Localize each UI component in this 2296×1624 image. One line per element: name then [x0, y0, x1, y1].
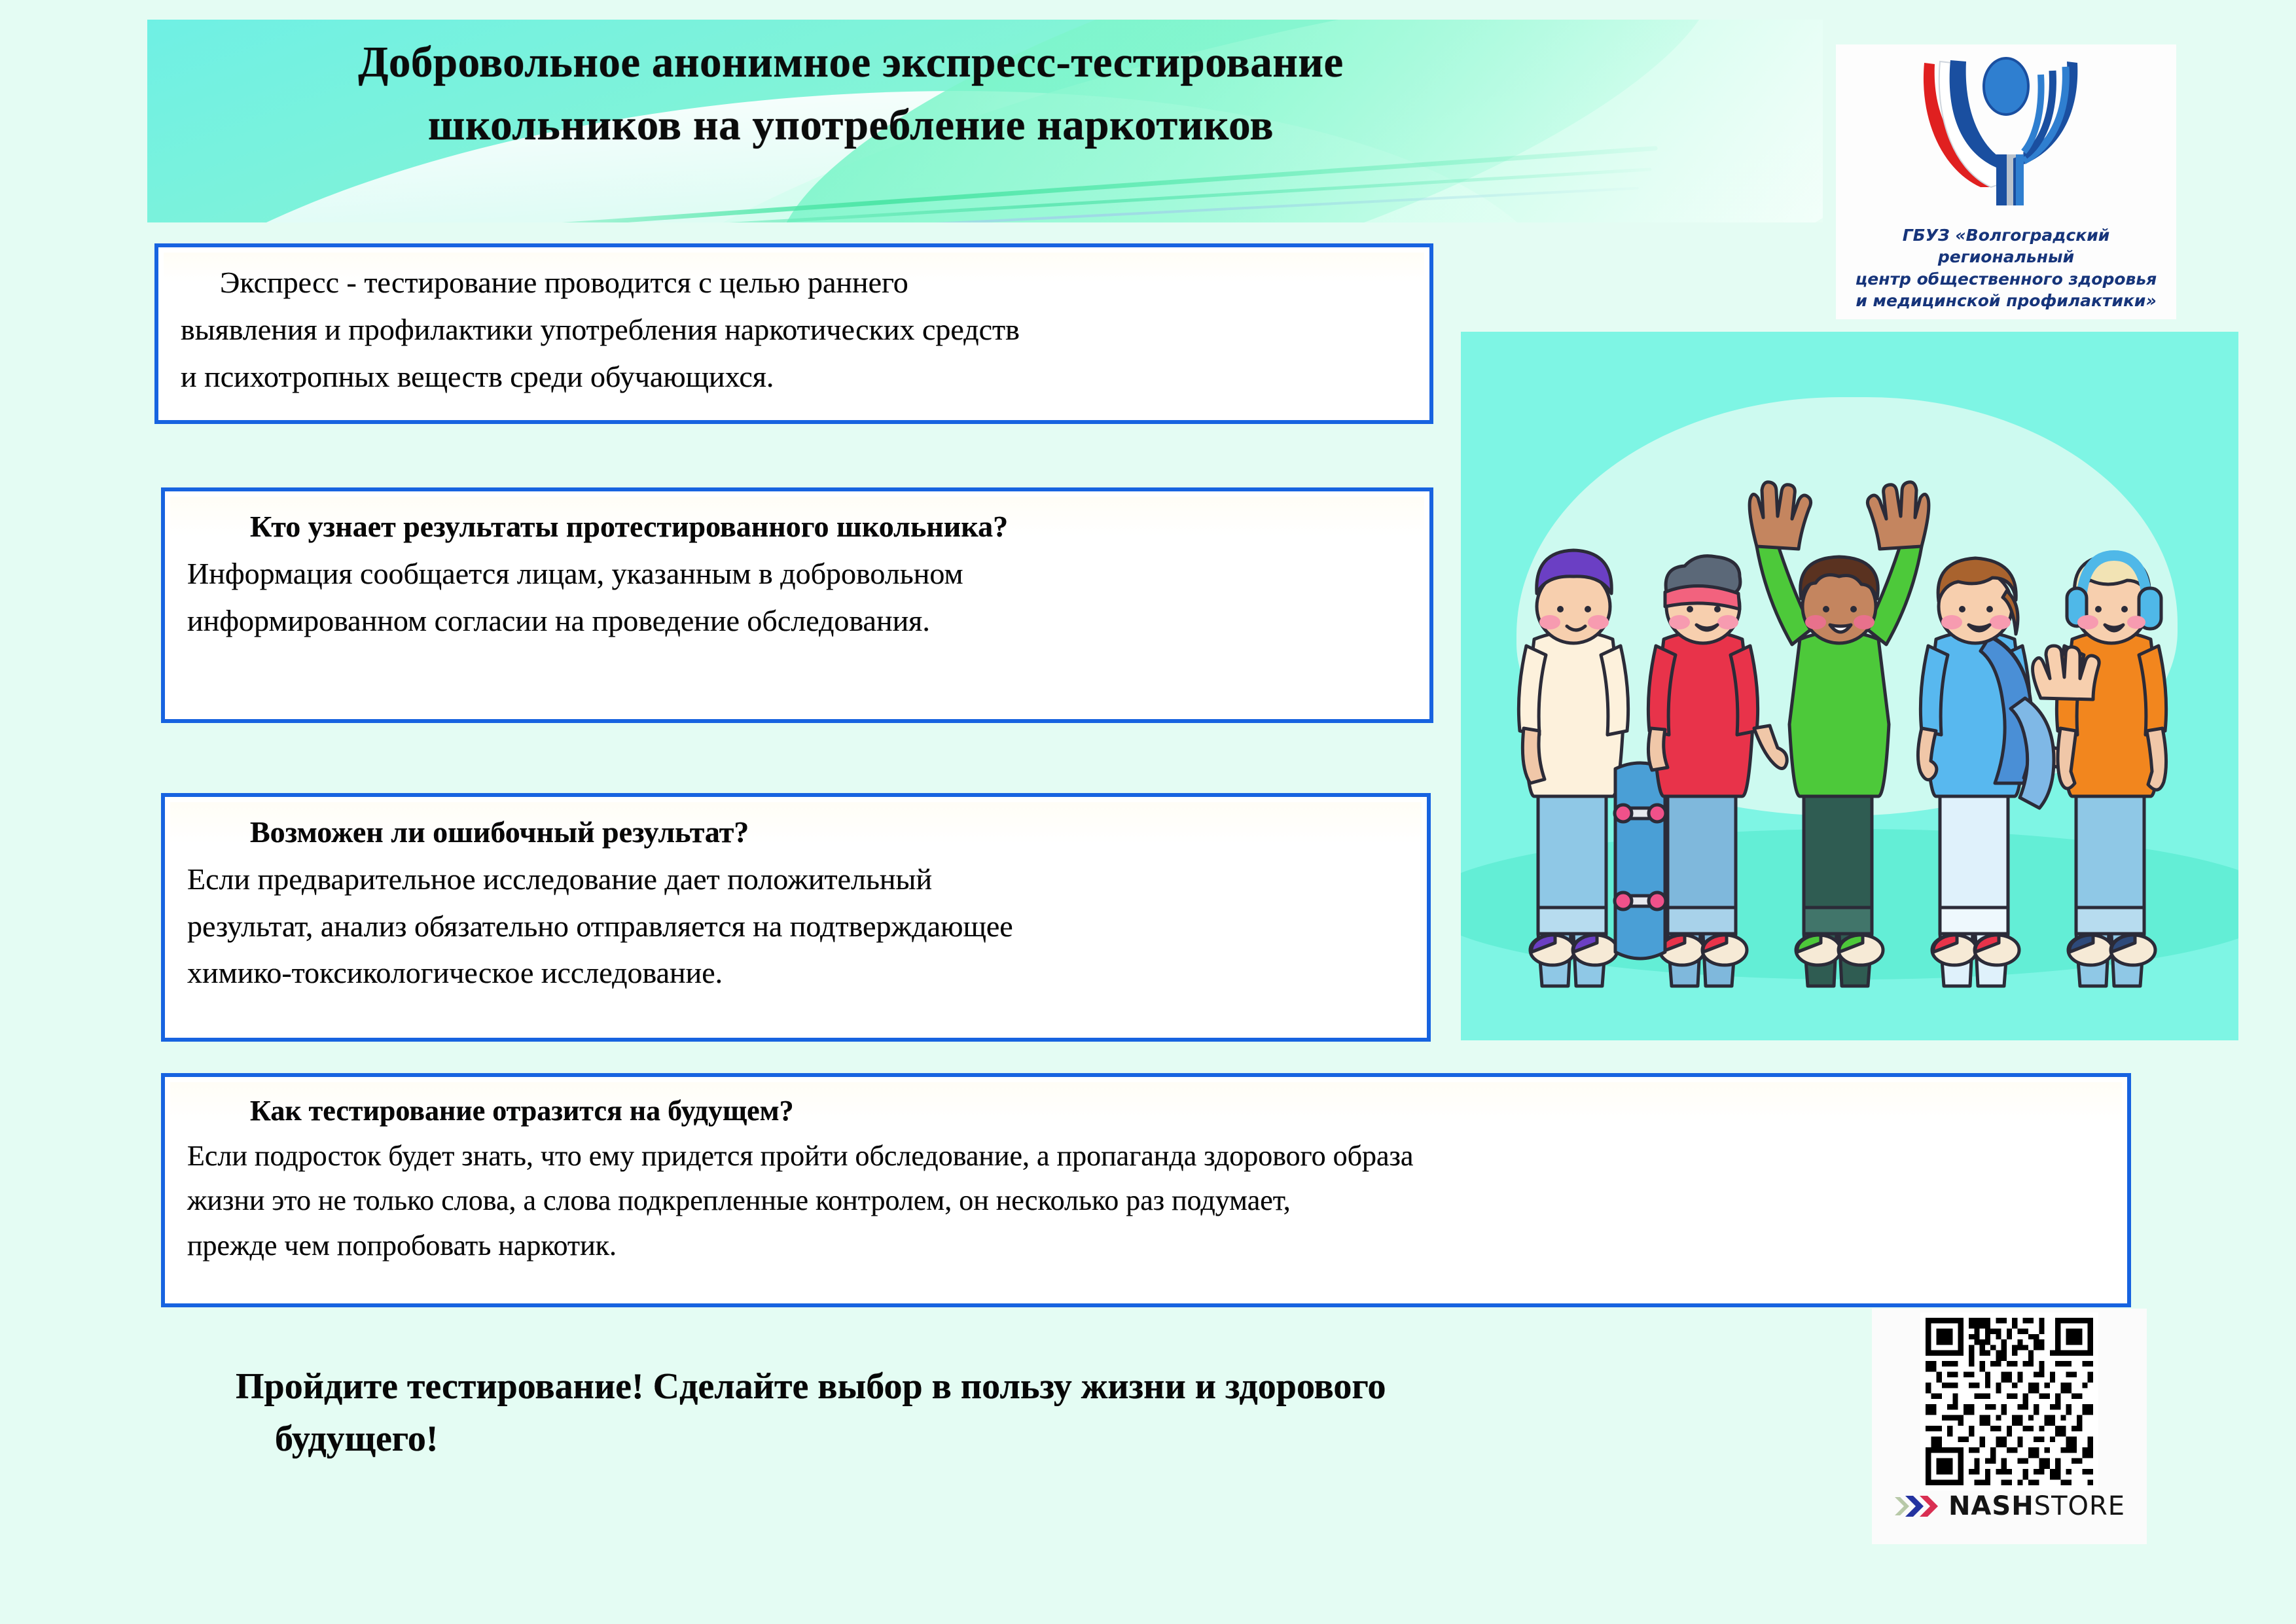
box4-line-1: Если подросток будет знать, что ему прид…	[187, 1134, 2105, 1179]
box3-heading: Возможен ли ошибочный результат?	[187, 809, 1405, 856]
info-box-who-knows: Кто узнает результаты протестированного …	[161, 487, 1433, 723]
nashstore-light: STORE	[2034, 1491, 2125, 1521]
skateboard	[1615, 763, 1666, 959]
info-box-future-impact-content: Как тестирование отразится на будущем? Е…	[170, 1082, 2122, 1298]
box2-heading: Кто узнает результаты протестированного …	[187, 503, 1407, 550]
box4-line-3: прежде чем попробовать наркотик.	[187, 1224, 2105, 1269]
call-to-action: Пройдите тестирование! Сделайте выбор в …	[236, 1361, 1820, 1465]
info-box-purpose: Экспресс - тестирование проводится с цел…	[154, 243, 1433, 424]
header-ribbon-1	[365, 146, 1658, 222]
title-line-2: школьников на употребление наркотиков	[147, 99, 1554, 152]
logo-caption-line-1: ГБУЗ «Волгоградский региональный	[1852, 224, 2160, 268]
cta-line-1: Пройдите тестирование! Сделайте выбор в …	[236, 1361, 1820, 1413]
box4-line-2: жизни это не только слова, а слова подкр…	[187, 1178, 2105, 1224]
kid-backpack	[1918, 558, 2066, 986]
teenagers-illustration	[1461, 332, 2238, 1040]
box2-line-1: Информация сообщается лицам, указанным в…	[187, 550, 1407, 597]
nashstore-bold: NASH	[1948, 1491, 2034, 1521]
kid-arms-raised	[1749, 482, 1929, 986]
nashstore-chevrons-icon	[1893, 1493, 1945, 1519]
info-box-purpose-content: Экспресс - тестирование проводится с цел…	[164, 253, 1424, 415]
box2-line-2: информированном согласии на проведение о…	[187, 597, 1407, 644]
box1-line-1: Экспресс - тестирование проводится с цел…	[181, 259, 1407, 306]
logo-caption: ГБУЗ «Волгоградский региональный центр о…	[1852, 224, 2160, 311]
box1-line-2: выявления и профилактики употребления на…	[181, 306, 1407, 353]
box4-heading: Как тестирование отразится на будущем?	[187, 1089, 2105, 1134]
health-center-emblem-icon	[1918, 56, 2094, 223]
qr-code-icon[interactable]	[1901, 1313, 2117, 1491]
page-title: Добровольное анонимное экспресс-тестиров…	[147, 36, 1554, 152]
box3-line-3: химико-токсикологическое исследование.	[187, 949, 1405, 997]
cta-line-2: будущего!	[236, 1413, 1820, 1466]
logo-caption-line-2: центр общественного здоровья	[1852, 268, 2160, 290]
box3-line-1: Если предварительное исследование дает п…	[187, 856, 1405, 903]
kid-purple-hair	[1518, 550, 1628, 986]
box1-line-3: и психотропных веществ среди обучающихся…	[181, 353, 1407, 400]
info-box-future-impact: Как тестирование отразится на будущем? Е…	[161, 1073, 2131, 1307]
nashstore-logo[interactable]: NASHSTORE	[1893, 1493, 2125, 1519]
teenagers-group-figure	[1461, 332, 2238, 1040]
nashstore-wordmark: NASHSTORE	[1948, 1493, 2125, 1519]
info-box-who-knows-content: Кто узнает результаты протестированного …	[170, 497, 1424, 714]
box3-line-2: результат, анализ обязательно отправляет…	[187, 903, 1405, 950]
title-line-1: Добровольное анонимное экспресс-тестиров…	[147, 36, 1554, 90]
organization-logo: ГБУЗ «Волгоградский региональный центр о…	[1836, 44, 2176, 319]
qr-code-block[interactable]: NASHSTORE	[1872, 1309, 2147, 1544]
info-box-false-result-content: Возможен ли ошибочный результат? Если пр…	[170, 802, 1422, 1033]
logo-caption-line-3: и медицинской профилактики»	[1852, 290, 2160, 311]
info-box-false-result: Возможен ли ошибочный результат? Если пр…	[161, 793, 1431, 1042]
poster-page: Добровольное анонимное экспресс-тестиров…	[0, 0, 2296, 1624]
kid-beanie-skater	[1615, 556, 1787, 986]
